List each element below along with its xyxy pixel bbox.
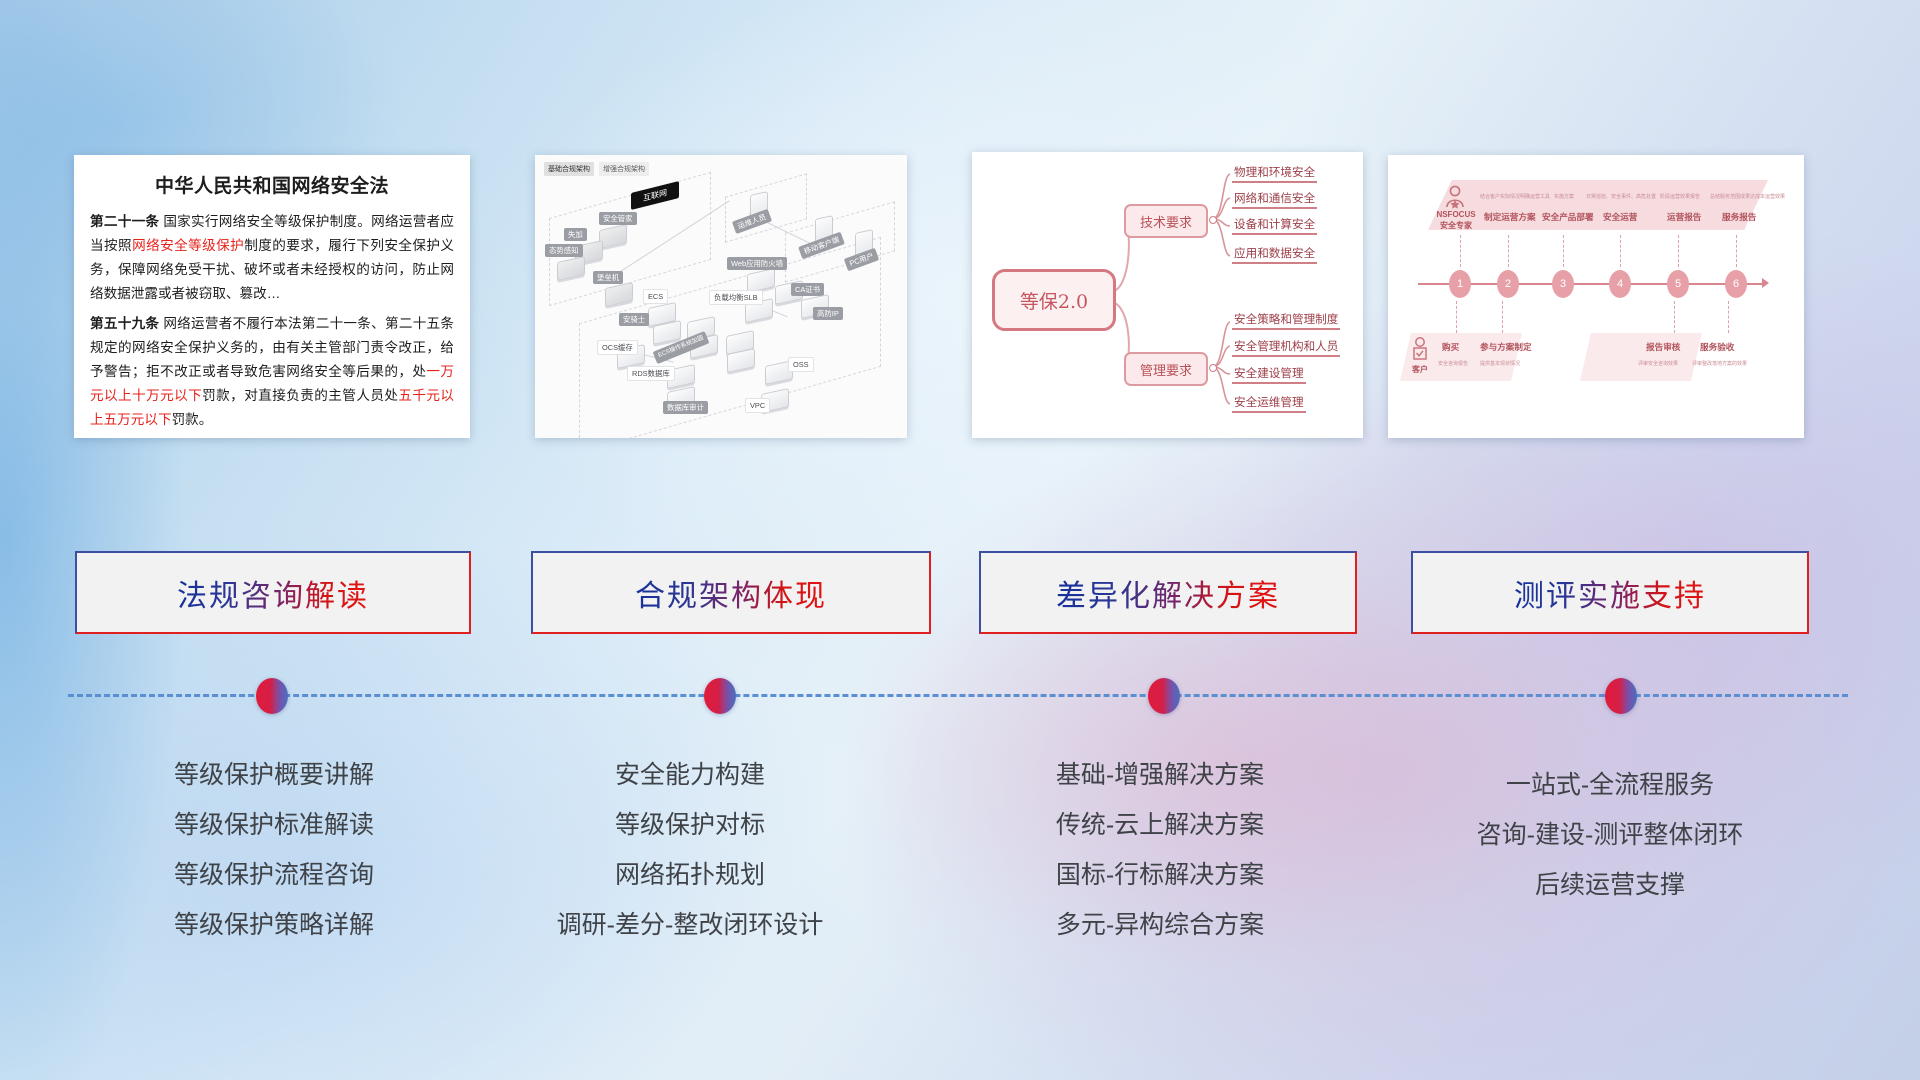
timeline-step-3[interactable]: 3 xyxy=(1552,270,1574,298)
header-box-compliance-architecture[interactable]: 合规架构体现 xyxy=(531,551,931,634)
bottom-step-2-title: 参与方案制定 xyxy=(1480,341,1532,353)
header-label-3: 差异化解决方案 xyxy=(1056,571,1280,615)
leaf-security-policy-system: 安全策略和管理制度 xyxy=(1232,311,1340,330)
timeline-step-1[interactable]: 1 xyxy=(1449,270,1471,298)
connector-b4 xyxy=(1728,301,1730,333)
label-vpc: VPC xyxy=(745,398,770,413)
architecture-diagram: 基础合规架构 增强合规架构 互联网 安全管家 失加 态势感知 堡垒机 xyxy=(535,155,907,438)
card-compliance-architecture: 基础合规架构 增强合规架构 互联网 安全管家 失加 态势感知 堡垒机 xyxy=(535,155,907,438)
top-step-5-sub: 总结服务范围成果达成本运营效果 xyxy=(1710,193,1785,200)
list-item: 多元-异构综合方案 xyxy=(940,900,1380,950)
column-list-4: 一站式-全流程服务 咨询-建设-测评整体闭环 后续运营支撑 xyxy=(1400,760,1820,910)
card-dengbao-mindmap: 等保2.0 技术要求 物理和环境安全 网络和通信安全 设备和计算安全 应用和数据… xyxy=(972,152,1363,438)
header-label-4: 测评实施支持 xyxy=(1514,571,1706,615)
label-waf: Web应用防火墙 xyxy=(727,257,787,270)
top-step-2-sub: 实施方案 xyxy=(1554,193,1574,200)
bottom-step-1-title: 购买 xyxy=(1442,341,1459,353)
list-item: 等级保护流程咨询 xyxy=(74,850,474,900)
column-list-2: 安全能力构建 等级保护对标 网络拓扑规划 调研-差分-整改闭环设计 xyxy=(470,750,910,950)
label-database-audit: 数据库审计 xyxy=(663,401,708,414)
label-rds-database: RDS数据库 xyxy=(627,366,675,381)
article-21-highlight: 网络安全等级保护 xyxy=(132,238,244,253)
label-oss: OSS xyxy=(788,357,814,372)
node-cube-ecs-5 xyxy=(727,348,755,373)
timeline-step-2[interactable]: 2 xyxy=(1497,270,1519,298)
header-box-differentiated-solution[interactable]: 差异化解决方案 xyxy=(979,551,1357,634)
connector-2 xyxy=(1508,235,1510,267)
article-21-label: 第二十一条 xyxy=(90,214,159,229)
expert-avatar-icon xyxy=(1444,185,1466,209)
list-item: 传统-云上解决方案 xyxy=(940,800,1380,850)
mindmap: 等保2.0 技术要求 物理和环境安全 网络和通信安全 设备和计算安全 应用和数据… xyxy=(972,152,1363,438)
list-item: 基础-增强解决方案 xyxy=(940,750,1380,800)
timeline-marker-2[interactable] xyxy=(704,678,736,714)
bottom-step-3-title: 报告审核 xyxy=(1646,341,1680,353)
article-59-text-b: 罚款，对直接负责的主管人员处 xyxy=(202,388,398,403)
tab-basic-architecture[interactable]: 基础合规架构 xyxy=(544,162,594,176)
top-step-3-sub: 日常巡检、安全事件、高危处置 xyxy=(1586,193,1656,200)
connector-b1 xyxy=(1456,301,1458,333)
timeline-arrow-icon xyxy=(1762,278,1769,288)
label-slb: 负载均衡SLB xyxy=(709,290,763,305)
customer-icon xyxy=(1410,337,1430,363)
label-ocs-cache: OCS缓存 xyxy=(597,340,638,355)
leaf-security-ops-mgmt: 安全运维管理 xyxy=(1232,394,1306,413)
label-anti-ddos-ip: 高防IP xyxy=(813,307,843,320)
list-item: 安全能力构建 xyxy=(470,750,910,800)
leaf-security-org-personnel: 安全管理机构和人员 xyxy=(1232,338,1340,357)
list-item: 后续运营支撑 xyxy=(1400,860,1820,910)
architecture-tabs: 基础合规架构 增强合规架构 xyxy=(544,162,649,176)
leaf-application-data-security: 应用和数据安全 xyxy=(1232,245,1317,264)
leaf-security-construction-mgmt: 安全建设管理 xyxy=(1232,365,1306,384)
law-article-59: 第五十九条 网络运营者不履行本法第二十一条、第二十五条规定的网络安全保护义务的，… xyxy=(90,312,454,432)
header-label-1: 法规咨询解读 xyxy=(177,571,369,615)
connector-b3 xyxy=(1674,301,1676,333)
law-text-body: 中华人民共和国网络安全法 第二十一条 国家实行网络安全等级保护制度。网络运营者应… xyxy=(74,155,470,438)
list-item: 国标-行标解决方案 xyxy=(940,850,1380,900)
timeline-step-6[interactable]: 6 xyxy=(1725,270,1747,298)
leaf-physical-environment-security: 物理和环境安全 xyxy=(1232,164,1317,183)
node-cube-security-butler xyxy=(599,224,627,249)
top-step-2-title: 安全产品部署 xyxy=(1542,211,1594,223)
bottom-step-3-sub: 评审安全咨询效果 xyxy=(1638,360,1678,367)
connector-b2 xyxy=(1502,301,1504,333)
customer-label: 客户 xyxy=(1402,364,1438,375)
connector-3 xyxy=(1563,235,1565,267)
label-ecs: ECS xyxy=(643,289,668,304)
connector-6 xyxy=(1736,235,1738,267)
card-nsfocus-service-timeline: NSFOCUS 安全专家 客户 结合客户实际情况明确运营工具 制定运营方案 实施… xyxy=(1388,155,1804,438)
top-step-4-title: 运营报告 xyxy=(1667,211,1701,223)
list-item: 咨询-建设-测评整体闭环 xyxy=(1400,810,1820,860)
customer-band-right xyxy=(1580,333,1702,381)
column-list-1: 等级保护概要讲解 等级保护标准解读 等级保护流程咨询 等级保护策略详解 xyxy=(74,750,474,950)
top-step-1-title: 制定运营方案 xyxy=(1484,211,1536,223)
list-item: 网络拓扑规划 xyxy=(470,850,910,900)
card-cybersecurity-law: 中华人民共和国网络安全法 第二十一条 国家实行网络安全等级保护制度。网络运营者应… xyxy=(74,155,470,438)
timeline-marker-4[interactable] xyxy=(1605,678,1637,714)
timeline-marker-3[interactable] xyxy=(1148,678,1180,714)
header-box-assessment-support[interactable]: 测评实施支持 xyxy=(1411,551,1809,634)
timeline-step-5[interactable]: 5 xyxy=(1667,270,1689,298)
label-agent: 安骑士 xyxy=(619,313,649,326)
top-step-4-sub: 阶段运营效果报告 xyxy=(1660,193,1700,200)
expert-label-line2: 安全专家 xyxy=(1426,220,1486,231)
timeline-dashed-line xyxy=(68,694,1848,697)
list-item: 等级保护对标 xyxy=(470,800,910,850)
bottom-step-4-sub: 评审整改落地方案的效果 xyxy=(1692,360,1747,367)
bottom-step-4-title: 服务验收 xyxy=(1700,341,1734,353)
nsfocus-timeline: NSFOCUS 安全专家 客户 结合客户实际情况明确运营工具 制定运营方案 实施… xyxy=(1388,155,1804,438)
law-article-21: 第二十一条 国家实行网络安全等级保护制度。网络运营者应当按照网络安全等级保护制度… xyxy=(90,210,454,306)
timeline-step-4[interactable]: 4 xyxy=(1609,270,1631,298)
connector-4 xyxy=(1620,235,1622,267)
header-label-2: 合规架构体现 xyxy=(635,571,827,615)
bottom-step-2-sub: 提供基本现状情况 xyxy=(1480,360,1520,367)
list-item: 等级保护概要讲解 xyxy=(74,750,474,800)
label-situation-awareness: 态势感知 xyxy=(545,244,583,257)
connector-1 xyxy=(1460,235,1462,267)
expert-label-line1: NSFOCUS xyxy=(1426,209,1486,220)
timeline-marker-1[interactable] xyxy=(256,678,288,714)
mindmap-branch-technical: 技术要求 xyxy=(1124,204,1208,238)
leaf-device-computing-security: 设备和计算安全 xyxy=(1232,216,1317,235)
header-box-regulation-consulting[interactable]: 法规咨询解读 xyxy=(75,551,471,634)
column-list-3: 基础-增强解决方案 传统-云上解决方案 国标-行标解决方案 多元-异构综合方案 xyxy=(940,750,1380,950)
label-detect: 失加 xyxy=(564,228,587,241)
article-59-label: 第五十九条 xyxy=(90,316,159,331)
bottom-step-1-sub: 安全咨询报告 xyxy=(1438,360,1468,367)
label-bastion-host: 堡垒机 xyxy=(593,271,623,284)
connector-5 xyxy=(1678,235,1680,267)
label-security-butler: 安全管家 xyxy=(599,212,637,225)
branch-management-collapse-dot[interactable] xyxy=(1209,364,1217,372)
tab-enhanced-architecture[interactable]: 增强合规架构 xyxy=(599,162,649,176)
node-cube-situation-awareness xyxy=(557,256,585,281)
law-title: 中华人民共和国网络安全法 xyxy=(90,171,454,198)
list-item: 调研-差分-整改闭环设计 xyxy=(470,900,910,950)
top-step-1-sub: 结合客户实际情况明确运营工具 xyxy=(1480,193,1550,200)
list-item: 等级保护标准解读 xyxy=(74,800,474,850)
branch-technical-collapse-dot[interactable] xyxy=(1209,216,1217,224)
top-step-5-title: 服务报告 xyxy=(1722,211,1756,223)
node-cube-bastion xyxy=(605,282,633,307)
leaf-network-communication-security: 网络和通信安全 xyxy=(1232,190,1317,209)
top-step-3-title: 安全运营 xyxy=(1603,211,1637,223)
mindmap-root: 等保2.0 xyxy=(992,269,1116,331)
label-ca-certificate: CA证书 xyxy=(791,283,824,296)
list-item: 一站式-全流程服务 xyxy=(1400,760,1820,810)
list-item: 等级保护策略详解 xyxy=(74,900,474,950)
mindmap-branch-management: 管理要求 xyxy=(1124,352,1208,386)
article-59-text-c: 罚款。 xyxy=(172,412,213,427)
